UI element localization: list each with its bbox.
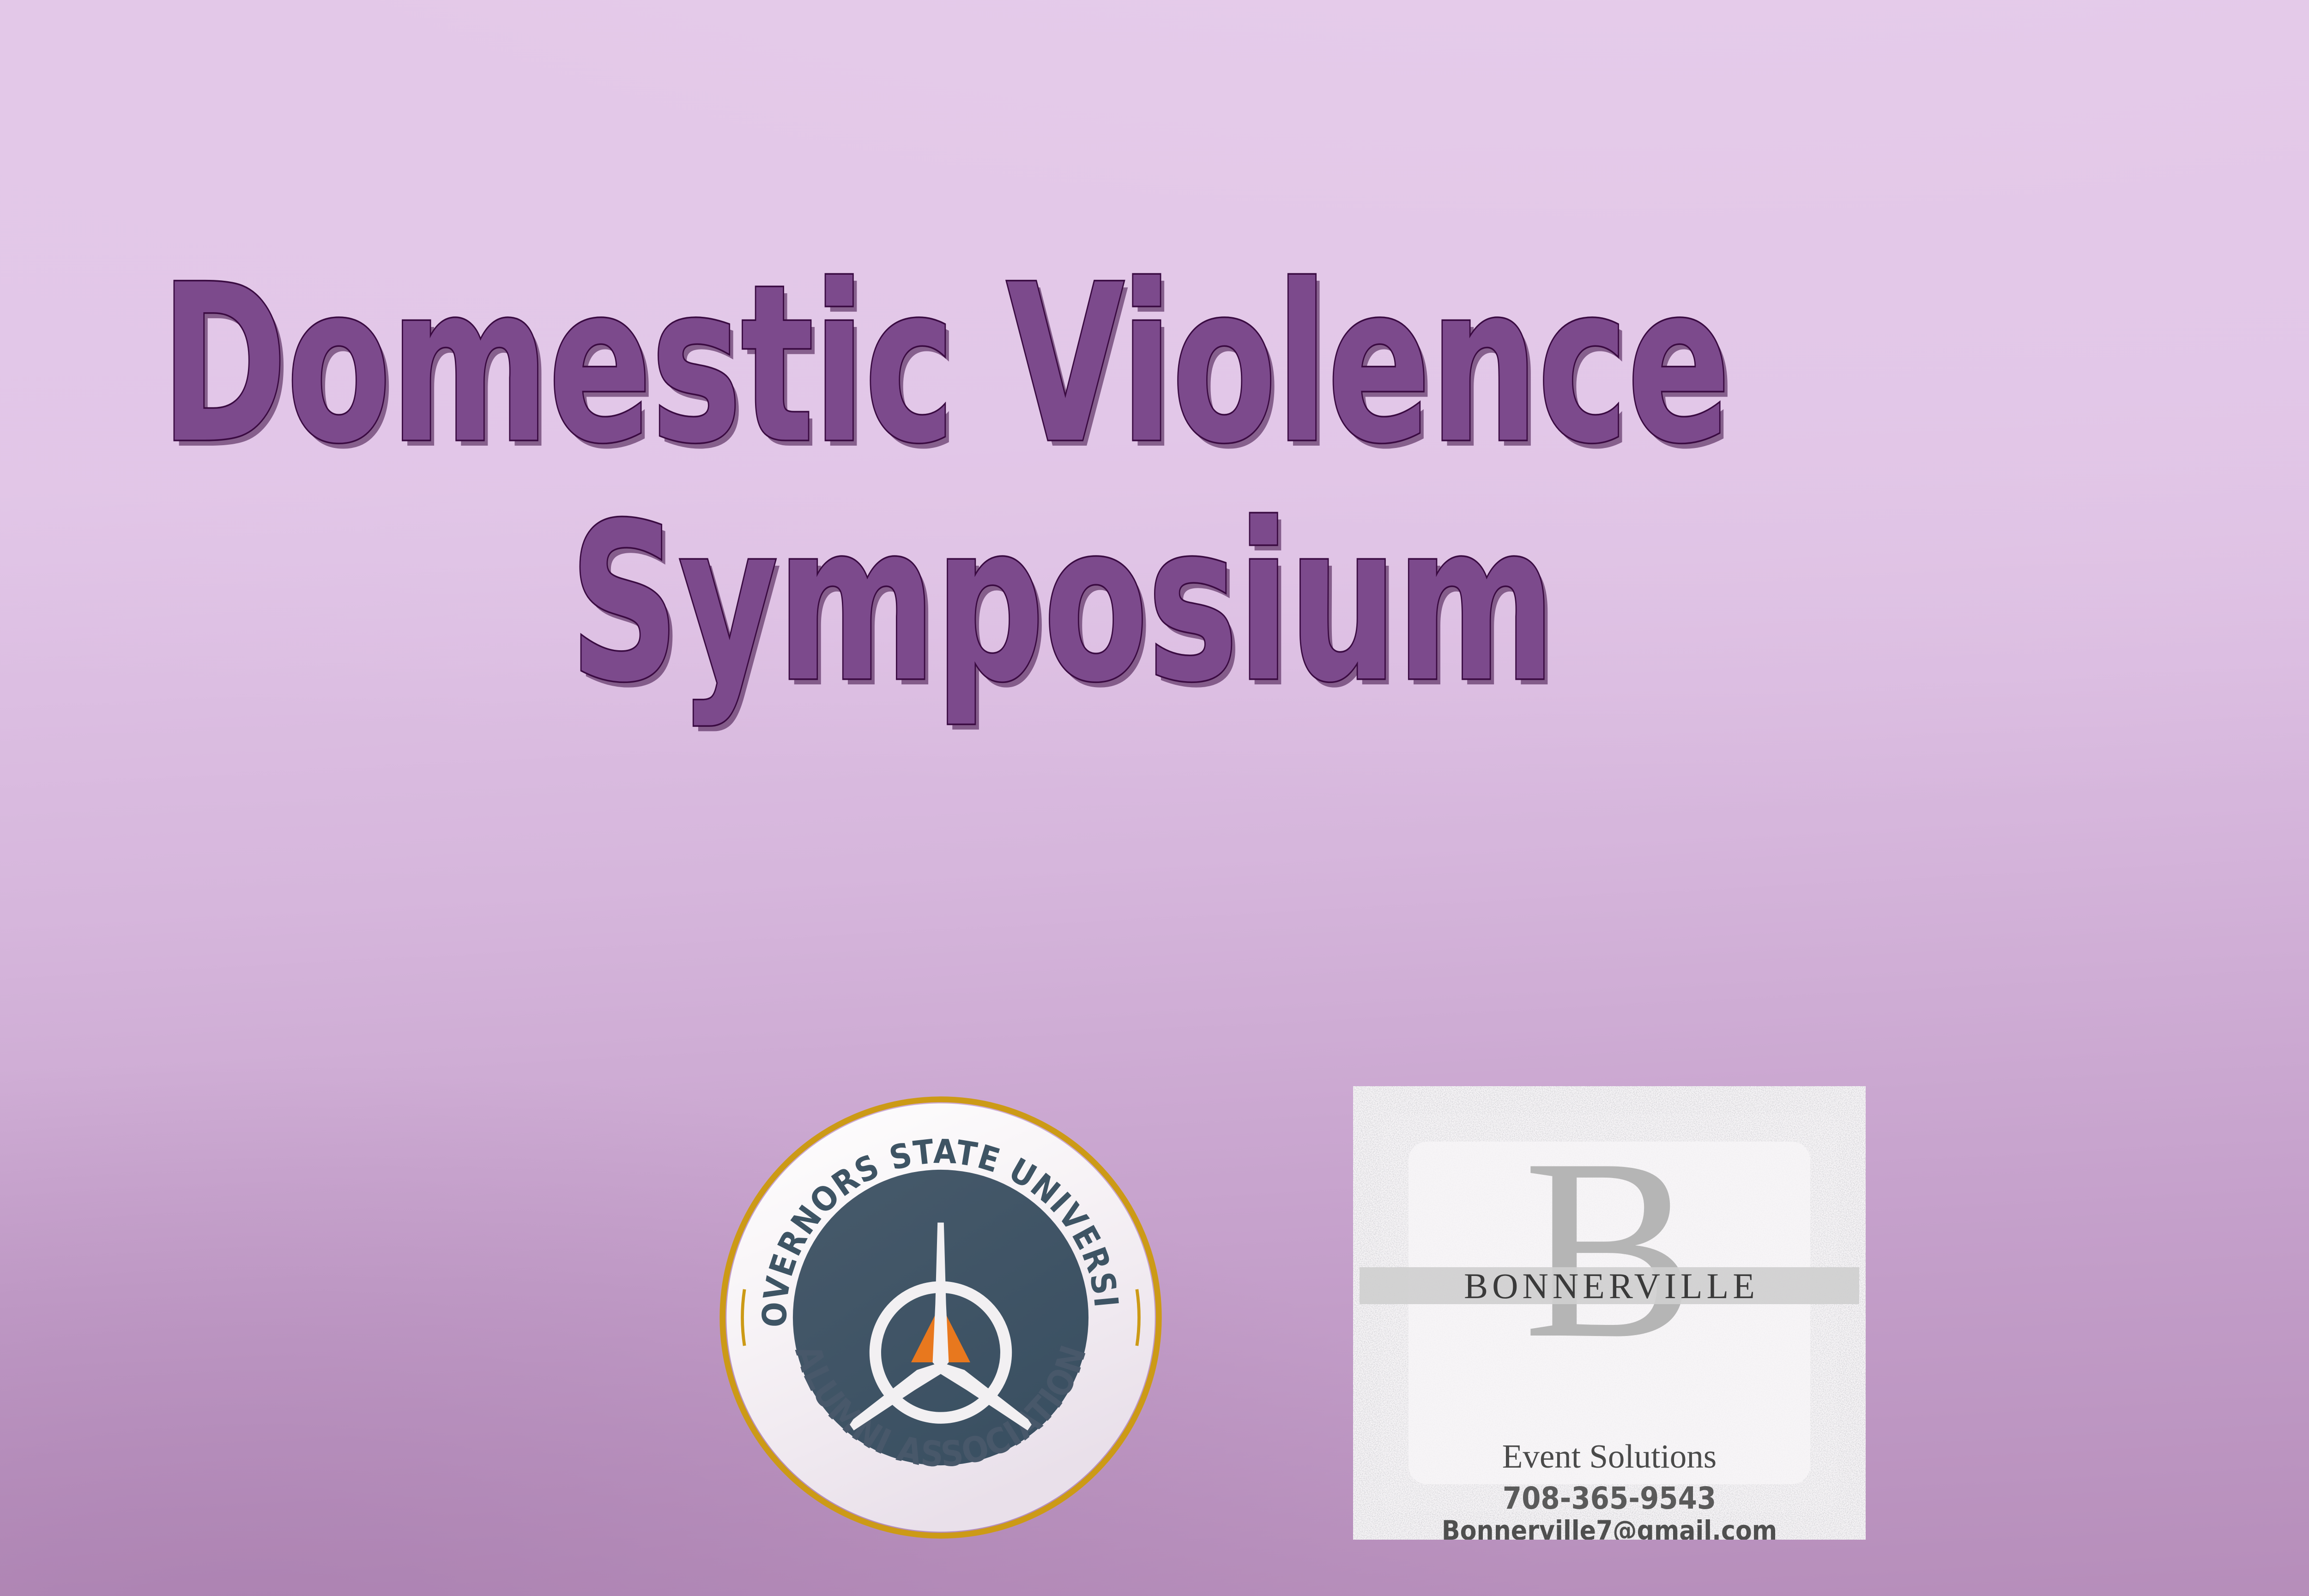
bonnerville-phone: 708-365-9543 xyxy=(1353,1481,1866,1516)
title-line-1: Domestic Violence xyxy=(161,259,1837,472)
bonnerville-monogram: B xyxy=(1353,1138,1866,1360)
poster-canvas: Domestic Violence Symposium xyxy=(0,0,2309,1596)
bonnerville-logo-card: B BONNERVILLE Event Solutions 708-365-95… xyxy=(1353,1086,1866,1540)
bonnerville-tagline: Event Solutions xyxy=(1353,1437,1866,1476)
bonnerville-email: Bonnerville7@gmail.com xyxy=(1353,1515,1866,1540)
poster-title: Domestic Violence Symposium xyxy=(139,259,2309,710)
bonnerville-name: BONNERVILLE xyxy=(1353,1268,1866,1305)
title-line-2: Symposium xyxy=(511,497,1614,710)
gsu-alumni-seal: GOVERNORS STATE UNIVERSITY ALUMNI ASSOCI… xyxy=(717,1094,1165,1542)
